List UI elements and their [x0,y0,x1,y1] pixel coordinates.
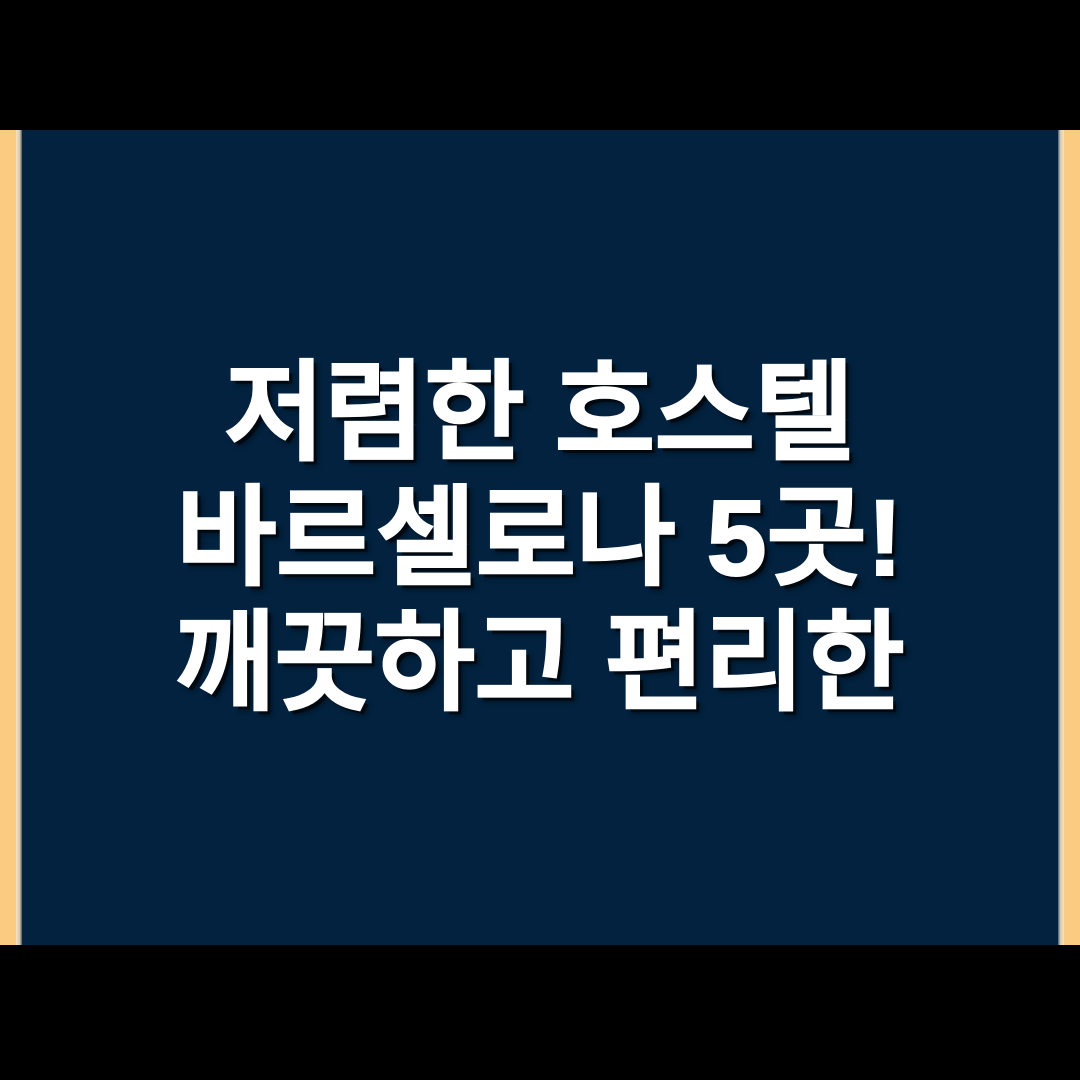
headline-line-3: 깨끗하고 편리한 [32,600,1048,725]
letterbox-top-bar [0,0,1080,130]
headline-block: 저렴한 호스텔 바르셀로나 5곳! 깨끗하고 편리한 [22,350,1058,726]
right-accent-band [1064,130,1080,945]
letterbox-bottom-bar [0,945,1080,1080]
headline-line-2: 바르셀로나 5곳! [32,475,1048,600]
poster-canvas: 저렴한 호스텔 바르셀로나 5곳! 깨끗하고 편리한 [0,0,1080,1080]
poster-stage: 저렴한 호스텔 바르셀로나 5곳! 깨끗하고 편리한 [0,130,1080,945]
left-accent-band [0,130,16,945]
right-accent-seam [1058,130,1064,945]
headline-line-1: 저렴한 호스텔 [32,350,1048,475]
